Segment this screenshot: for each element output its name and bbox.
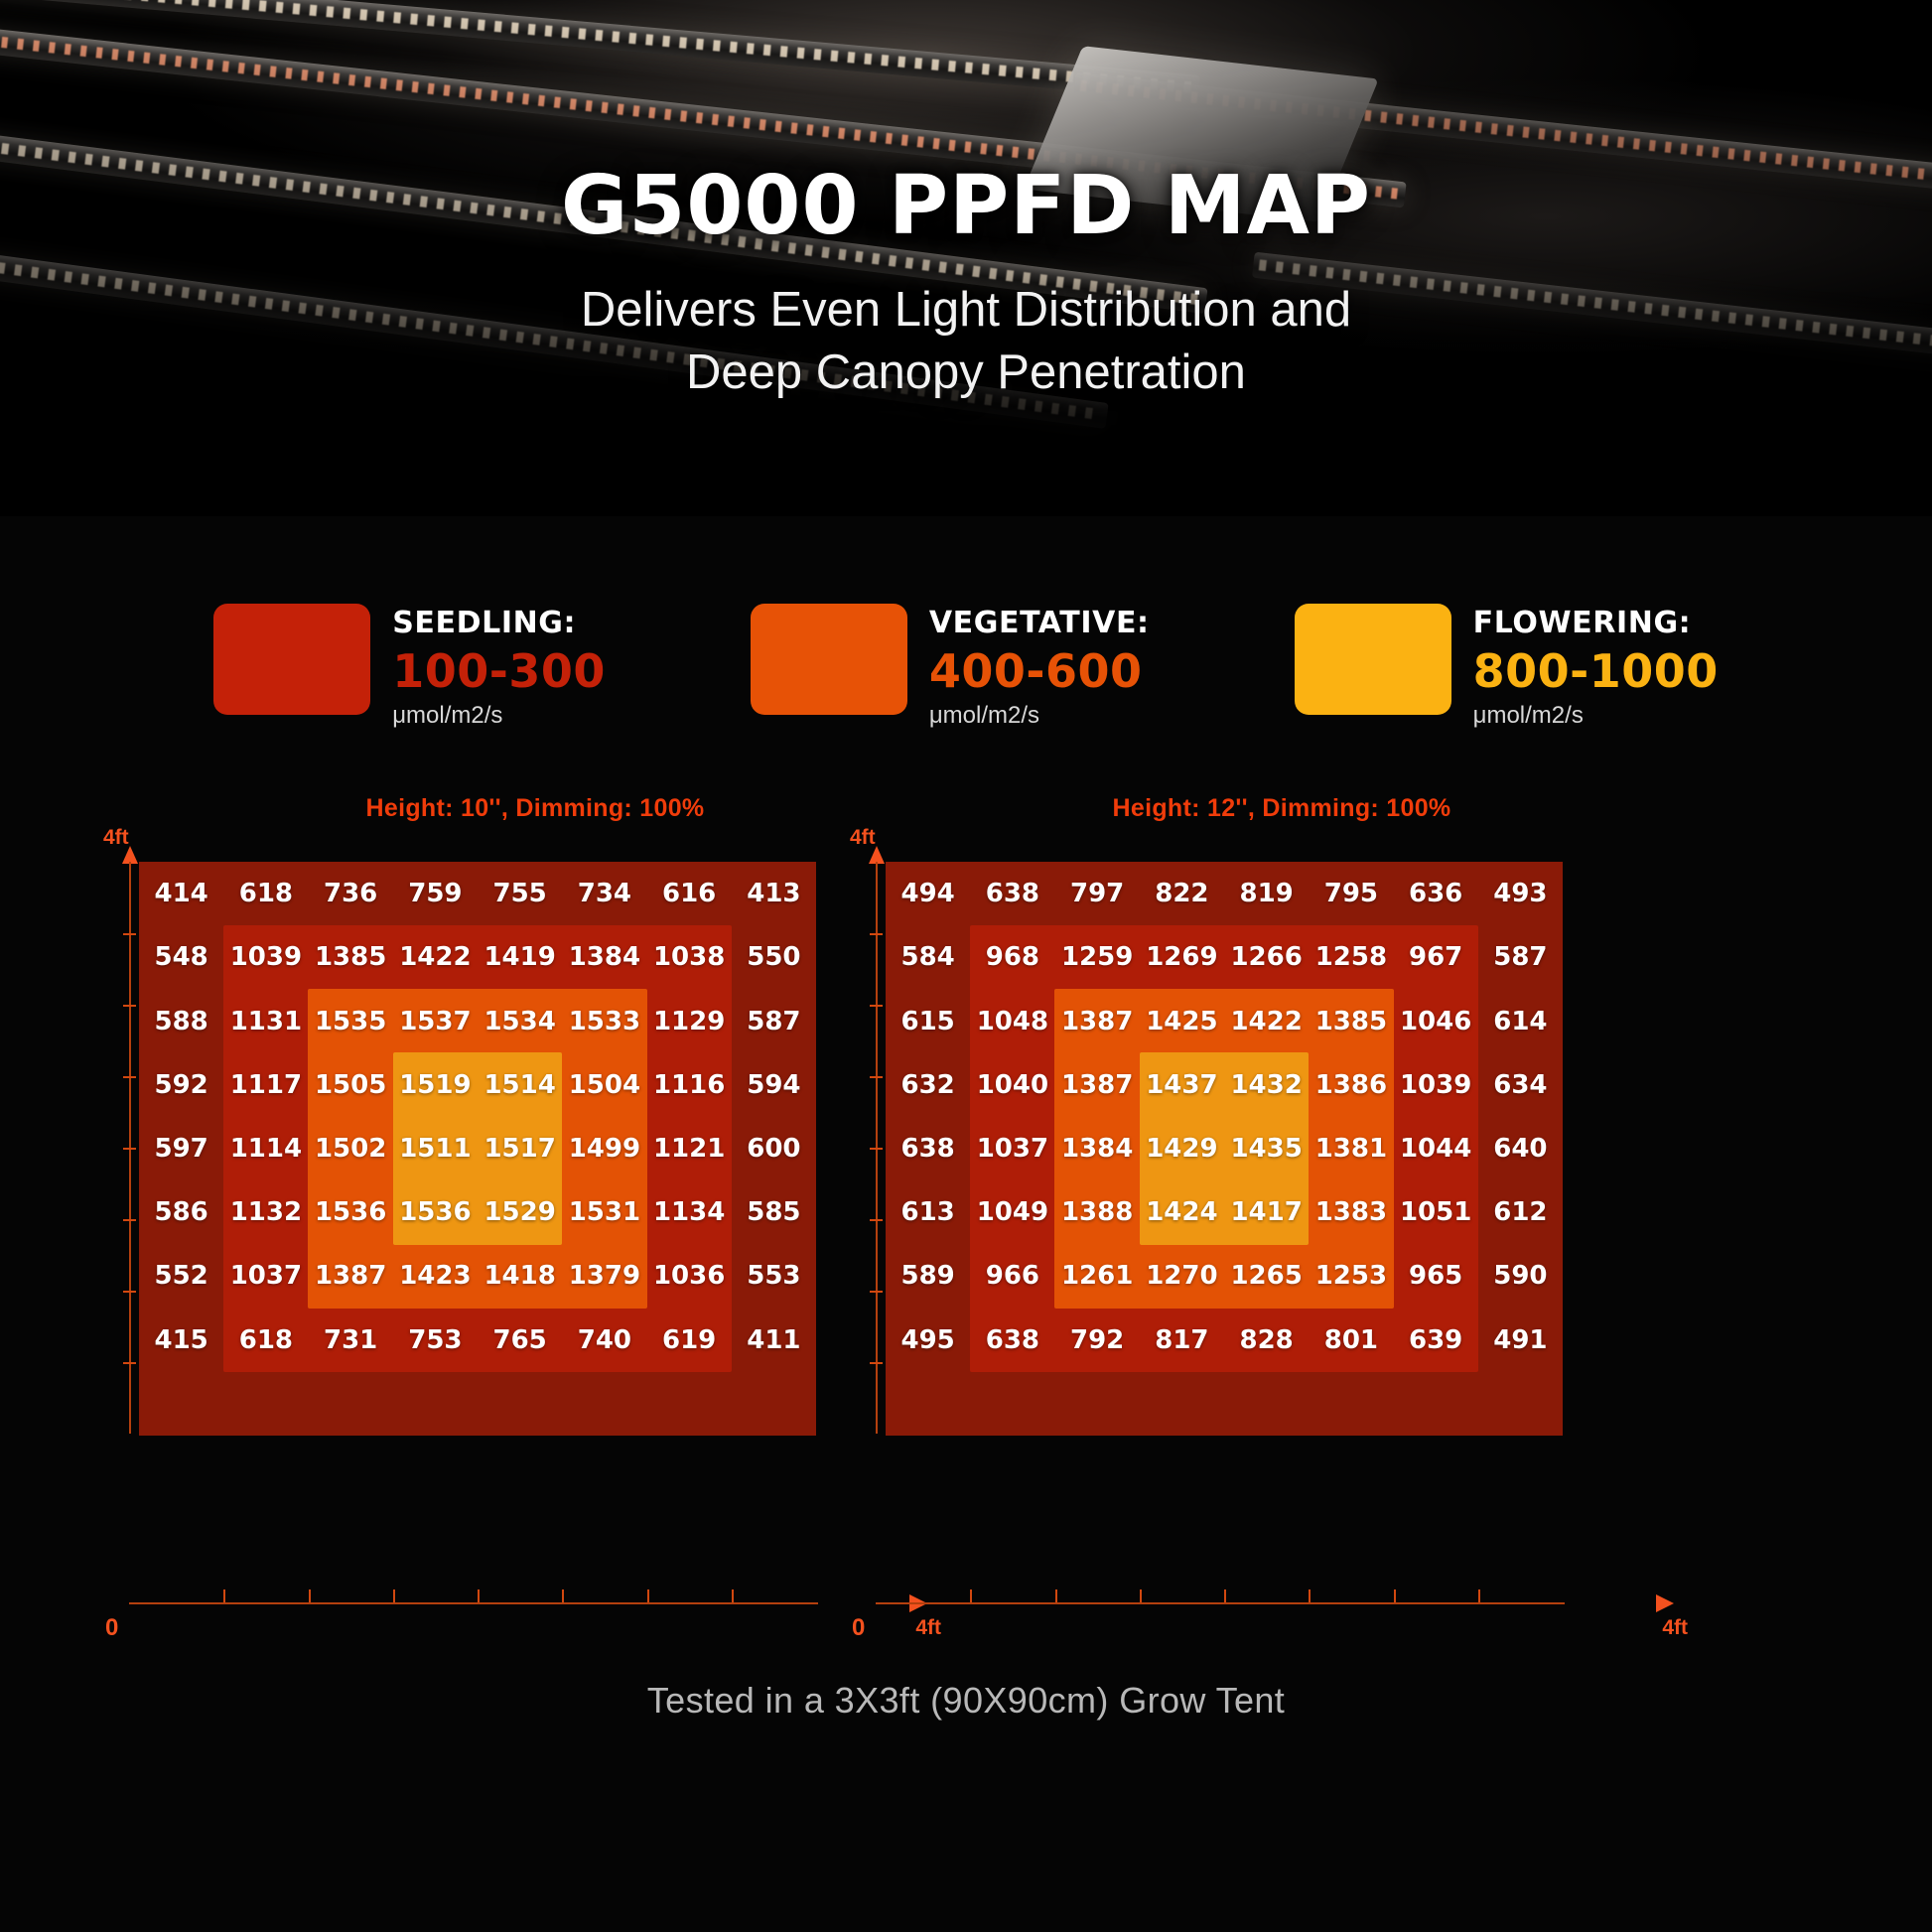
ppfd-cell: 736	[309, 862, 393, 925]
ppfd-cell: 1270	[1140, 1244, 1224, 1308]
y-axis-tick	[123, 933, 136, 935]
ppfd-cell: 552	[139, 1244, 223, 1308]
ppfd-cell: 1259	[1055, 925, 1140, 989]
x-axis-tick	[970, 1589, 972, 1602]
ppfd-cell: 1529	[478, 1180, 562, 1244]
ppfd-cell: 1519	[393, 1053, 478, 1117]
ppfd-maps-container: Height: 10'', Dimming: 100% 4ft 0 4ft 41…	[0, 794, 1932, 1638]
ppfd-cell: 1417	[1224, 1180, 1309, 1244]
heatmap-grid-10in: 4146187367597557346164135481039138514221…	[139, 862, 816, 1436]
ppfd-cell: 1039	[223, 925, 308, 989]
ppfd-cell: 819	[1224, 862, 1309, 925]
ppfd-cell: 1435	[1224, 1117, 1309, 1180]
ppfd-cell: 731	[309, 1309, 393, 1372]
ppfd-cell: 822	[1140, 862, 1224, 925]
test-conditions-note: Tested in a 3X3ft (90X90cm) Grow Tent	[0, 1680, 1932, 1722]
ppfd-cell: 550	[732, 925, 816, 989]
page-title: G5000 PPFD MAP	[0, 159, 1932, 253]
ppfd-cell: 1383	[1309, 1180, 1393, 1244]
page-subtitle: Delivers Even Light Distribution and Dee…	[0, 279, 1932, 403]
title-block: G5000 PPFD MAP Delivers Even Light Distr…	[0, 159, 1932, 403]
ppfd-cell: 792	[1055, 1309, 1140, 1372]
ppfd-cell: 1387	[1055, 1053, 1140, 1117]
x-axis-line	[876, 1602, 1565, 1604]
y-axis-tick	[870, 1362, 883, 1364]
ppfd-cell: 638	[970, 862, 1054, 925]
x-axis-tick	[1309, 1589, 1311, 1602]
ppfd-cell: 414	[139, 862, 223, 925]
ppfd-cell: 594	[732, 1053, 816, 1117]
ppfd-cell: 413	[732, 862, 816, 925]
ppfd-cell: 636	[1394, 862, 1478, 925]
ppfd-cell: 1114	[223, 1117, 308, 1180]
y-axis-tick	[870, 1291, 883, 1293]
ppfd-cell: 1381	[1309, 1117, 1393, 1180]
ppfd-cell: 1504	[562, 1053, 646, 1117]
ppfd-cell: 1384	[1055, 1117, 1140, 1180]
ppfd-cell: 759	[393, 862, 478, 925]
x-axis-line	[129, 1602, 818, 1604]
ppfd-cell: 966	[970, 1244, 1054, 1308]
ppfd-cell: 1121	[647, 1117, 732, 1180]
ppfd-cell: 797	[1055, 862, 1140, 925]
ppfd-cell: 1386	[1309, 1053, 1393, 1117]
y-axis-tick	[123, 1076, 136, 1078]
ppfd-cell: 615	[886, 989, 970, 1052]
ppfd-cell: 1437	[1140, 1053, 1224, 1117]
ppfd-cell: 1423	[393, 1244, 478, 1308]
ppfd-cell: 1514	[478, 1053, 562, 1117]
ppfd-cell: 1265	[1224, 1244, 1309, 1308]
ppfd-cell: 600	[732, 1117, 816, 1180]
ppfd-cell: 1536	[309, 1180, 393, 1244]
ppfd-cell: 1038	[647, 925, 732, 989]
axis-origin-label: 0	[852, 1614, 865, 1642]
ppfd-cell: 1424	[1140, 1180, 1224, 1244]
ppfd-cell: 589	[886, 1244, 970, 1308]
ppfd-cell: 1379	[562, 1244, 646, 1308]
ppfd-cell: 587	[732, 989, 816, 1052]
x-axis-tick	[1055, 1589, 1057, 1602]
ppfd-cell: 1117	[223, 1053, 308, 1117]
ppfd-cell: 613	[886, 1180, 970, 1244]
ppfd-cell: 590	[1478, 1244, 1563, 1308]
legend-swatch-vegetative	[751, 604, 907, 715]
ppfd-cell: 1419	[478, 925, 562, 989]
legend-swatch-seedling	[213, 604, 370, 715]
y-axis-tick	[123, 1362, 136, 1364]
legend-text-vegetative: VEGETATIVE: 400-600 μmol/m2/s	[929, 604, 1150, 730]
ppfd-cell: 619	[647, 1309, 732, 1372]
ppfd-cell: 1429	[1140, 1117, 1224, 1180]
ppfd-cell: 548	[139, 925, 223, 989]
ppfd-cell: 1536	[393, 1180, 478, 1244]
legend-item-flowering: FLOWERING: 800-1000 μmol/m2/s	[1295, 604, 1719, 730]
y-axis-tick	[870, 1076, 883, 1078]
x-axis-label: 4ft	[1662, 1616, 1688, 1640]
ppfd-cell: 1258	[1309, 925, 1393, 989]
heatmap-cells: 4146187367597557346164135481039138514221…	[139, 862, 816, 1436]
map-title-10in: Height: 10'', Dimming: 100%	[103, 794, 927, 823]
ppfd-cell: 1388	[1055, 1180, 1140, 1244]
ppfd-cell: 765	[478, 1309, 562, 1372]
x-axis-tick	[1224, 1589, 1226, 1602]
ppfd-cell: 632	[886, 1053, 970, 1117]
ppfd-cell: 1036	[647, 1244, 732, 1308]
ppfd-cell: 493	[1478, 862, 1563, 925]
legend-range-value: 800-1000	[1473, 644, 1719, 698]
ppfd-cell: 1531	[562, 1180, 646, 1244]
ppfd-cell: 1422	[1224, 989, 1309, 1052]
y-axis-tick	[870, 1219, 883, 1221]
ppfd-cell: 640	[1478, 1117, 1563, 1180]
ppfd-cell: 734	[562, 862, 646, 925]
ppfd-cell: 801	[1309, 1309, 1393, 1372]
ppfd-cell: 1499	[562, 1117, 646, 1180]
legend-item-seedling: SEEDLING: 100-300 μmol/m2/s	[213, 604, 606, 730]
ppfd-cell: 968	[970, 925, 1054, 989]
ppfd-cell: 795	[1309, 862, 1393, 925]
ppfd-cell: 1534	[478, 989, 562, 1052]
axis-origin-label: 0	[105, 1614, 118, 1642]
ppfd-cell: 411	[732, 1309, 816, 1372]
legend-text-seedling: SEEDLING: 100-300 μmol/m2/s	[392, 604, 606, 730]
x-axis-tick	[309, 1589, 311, 1602]
x-axis-tick	[562, 1589, 564, 1602]
ppfd-cell: 1502	[309, 1117, 393, 1180]
ppfd-cell: 1046	[1394, 989, 1478, 1052]
ppfd-cell: 1132	[223, 1180, 308, 1244]
ppfd-cell: 740	[562, 1309, 646, 1372]
ppfd-cell: 1387	[309, 1244, 393, 1308]
ppfd-cell: 618	[223, 862, 308, 925]
y-axis-tick	[870, 1005, 883, 1007]
ppfd-cell: 553	[732, 1244, 816, 1308]
ppfd-cell: 612	[1478, 1180, 1563, 1244]
ppfd-cell: 587	[1478, 925, 1563, 989]
ppfd-cell: 828	[1224, 1309, 1309, 1372]
ppfd-cell: 1039	[1394, 1053, 1478, 1117]
y-axis-tick	[123, 1005, 136, 1007]
ppfd-cell: 1425	[1140, 989, 1224, 1052]
ppfd-cell: 1384	[562, 925, 646, 989]
ppfd-cell: 965	[1394, 1244, 1478, 1308]
ppfd-map-infographic: G5000 PPFD MAP Delivers Even Light Distr…	[0, 0, 1932, 1932]
legend-range-value: 400-600	[929, 644, 1150, 698]
map-title-12in: Height: 12'', Dimming: 100%	[850, 794, 1674, 823]
ppfd-cell: 753	[393, 1309, 478, 1372]
ppfd-cell: 1535	[309, 989, 393, 1052]
ppfd-cell: 1049	[970, 1180, 1054, 1244]
x-axis-arrow-icon	[1656, 1594, 1674, 1612]
x-axis-tick	[223, 1589, 225, 1602]
subtitle-line-1: Delivers Even Light Distribution and	[0, 279, 1932, 342]
y-axis-tick	[123, 1148, 136, 1150]
ppfd-cell: 1040	[970, 1053, 1054, 1117]
x-axis-tick	[647, 1589, 649, 1602]
ppfd-cell: 1537	[393, 989, 478, 1052]
ppfd-cell: 1269	[1140, 925, 1224, 989]
y-axis-tick	[123, 1291, 136, 1293]
x-axis-tick	[393, 1589, 395, 1602]
ppfd-cell: 638	[886, 1117, 970, 1180]
ppfd-cell: 1037	[970, 1117, 1054, 1180]
legend-text-flowering: FLOWERING: 800-1000 μmol/m2/s	[1473, 604, 1719, 730]
y-axis-tick	[123, 1219, 136, 1221]
ppfd-cell: 1511	[393, 1117, 478, 1180]
ppfd-cell: 1432	[1224, 1053, 1309, 1117]
ppfd-cell: 592	[139, 1053, 223, 1117]
x-axis-tick	[732, 1589, 734, 1602]
ppfd-cell: 1116	[647, 1053, 732, 1117]
ppfd-cell: 588	[139, 989, 223, 1052]
ppfd-cell: 1051	[1394, 1180, 1478, 1244]
x-axis-tick	[1140, 1589, 1142, 1602]
ppfd-cell: 597	[139, 1117, 223, 1180]
x-axis-tick	[478, 1589, 480, 1602]
legend-stage-label: VEGETATIVE:	[929, 606, 1150, 640]
ppfd-cell: 634	[1478, 1053, 1563, 1117]
ppfd-cell: 1387	[1055, 989, 1140, 1052]
legend-unit-label: μmol/m2/s	[1473, 702, 1719, 730]
ppfd-cell: 1253	[1309, 1244, 1393, 1308]
legend-item-vegetative: VEGETATIVE: 400-600 μmol/m2/s	[751, 604, 1150, 730]
ppfd-cell: 1505	[309, 1053, 393, 1117]
subtitle-line-2: Deep Canopy Penetration	[0, 342, 1932, 404]
ppfd-cell: 1266	[1224, 925, 1309, 989]
ppfd-cell: 585	[732, 1180, 816, 1244]
legend-stage-label: SEEDLING:	[392, 606, 606, 640]
ppfd-cell: 494	[886, 862, 970, 925]
legend-unit-label: μmol/m2/s	[392, 702, 606, 730]
ppfd-cell: 586	[139, 1180, 223, 1244]
ppfd-stage-legend: SEEDLING: 100-300 μmol/m2/s VEGETATIVE: …	[0, 604, 1932, 730]
ppfd-cell: 639	[1394, 1309, 1478, 1372]
ppfd-cell: 1134	[647, 1180, 732, 1244]
ppfd-cell: 495	[886, 1309, 970, 1372]
ppfd-cell: 618	[223, 1309, 308, 1372]
ppfd-cell: 616	[647, 862, 732, 925]
ppfd-cell: 1129	[647, 989, 732, 1052]
y-axis-tick	[870, 1148, 883, 1150]
ppfd-cell: 755	[478, 862, 562, 925]
ppfd-cell: 1131	[223, 989, 308, 1052]
x-axis-tick	[1394, 1589, 1396, 1602]
legend-unit-label: μmol/m2/s	[929, 702, 1150, 730]
ppfd-map-12in: Height: 12'', Dimming: 100% 4ft 0 4ft 49…	[850, 794, 1674, 1638]
ppfd-cell: 415	[139, 1309, 223, 1372]
led-diodes	[0, 0, 1193, 92]
ppfd-cell: 1044	[1394, 1117, 1478, 1180]
legend-range-value: 100-300	[392, 644, 606, 698]
ppfd-map-10in: Height: 10'', Dimming: 100% 4ft 0 4ft 41…	[103, 794, 927, 1638]
ppfd-cell: 1037	[223, 1244, 308, 1308]
ppfd-cell: 1517	[478, 1117, 562, 1180]
ppfd-cell: 817	[1140, 1309, 1224, 1372]
heatmap-grid-12in: 4946387978228197956364935849681259126912…	[886, 862, 1563, 1436]
x-axis-tick	[1478, 1589, 1480, 1602]
ppfd-cell: 1261	[1055, 1244, 1140, 1308]
ppfd-cell: 638	[970, 1309, 1054, 1372]
legend-stage-label: FLOWERING:	[1473, 606, 1719, 640]
ppfd-cell: 1385	[309, 925, 393, 989]
y-axis-tick	[870, 933, 883, 935]
ppfd-cell: 1418	[478, 1244, 562, 1308]
ppfd-cell: 491	[1478, 1309, 1563, 1372]
ppfd-cell: 614	[1478, 989, 1563, 1052]
ppfd-cell: 1385	[1309, 989, 1393, 1052]
ppfd-cell: 1422	[393, 925, 478, 989]
ppfd-cell: 1048	[970, 989, 1054, 1052]
legend-swatch-flowering	[1295, 604, 1451, 715]
ppfd-cell: 1533	[562, 989, 646, 1052]
ppfd-cell: 584	[886, 925, 970, 989]
ppfd-cell: 967	[1394, 925, 1478, 989]
heatmap-cells: 4946387978228197956364935849681259126912…	[886, 862, 1563, 1436]
